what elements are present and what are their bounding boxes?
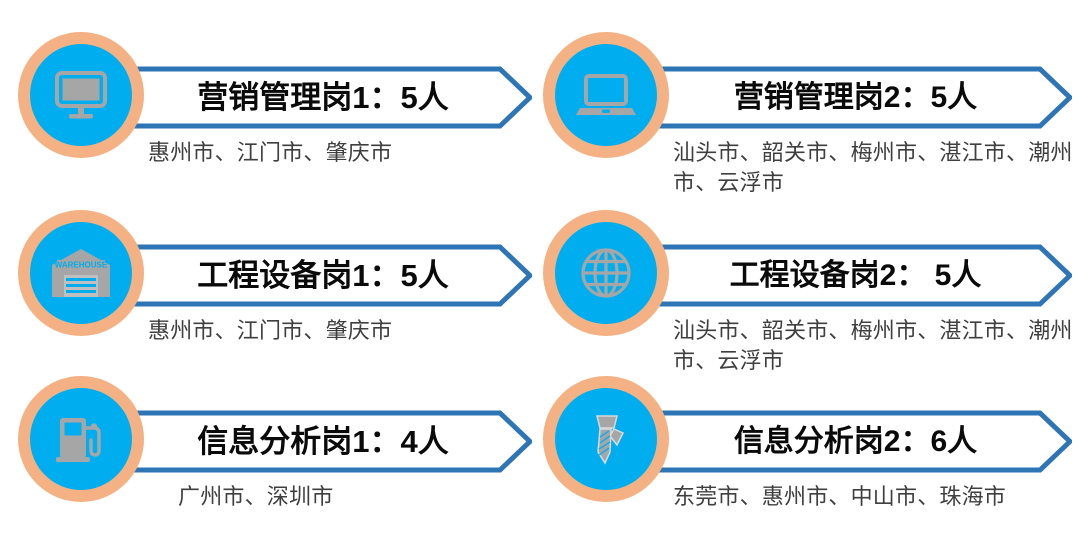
badge-inner (30, 44, 132, 146)
entry-cities: 惠州市、江门市、肇庆市 (148, 316, 538, 346)
entry-title: 信息分析岗1：4人 (112, 410, 532, 473)
badge-analysis-2 (543, 376, 669, 502)
entry-title: 工程设备岗2： 5人 (637, 244, 1072, 307)
entry-title: 营销管理岗1：5人 (112, 66, 532, 129)
banner-marketing-1: 营销管理岗1：5人 (112, 66, 532, 129)
entry-marketing-2: 营销管理岗2：5人 汕头市、韶关市、梅州市、湛江市、潮州市、云浮市 (525, 16, 1065, 194)
fuel-pump-icon (50, 408, 112, 470)
warehouse-label: WAREHOUSE (55, 261, 108, 270)
entry-title: 营销管理岗2：5人 (637, 66, 1072, 129)
badge-inner (555, 44, 657, 146)
badge-engineering-2 (543, 210, 669, 336)
necktie-icon (575, 408, 637, 470)
entry-cities: 惠州市、江门市、肇庆市 (148, 138, 538, 168)
entry-analysis-1: 信息分析岗1：4人 广州市、深圳市 (0, 360, 540, 538)
desktop-monitor-icon (50, 64, 112, 126)
banner-engineering-1: 工程设备岗1：5人 (112, 244, 532, 307)
entry-analysis-2: 信息分析岗2：6人 东莞市、惠州市、中山市、珠海市 (525, 360, 1065, 538)
entry-marketing-1: 营销管理岗1：5人 惠州市、江门市、肇庆市 (0, 16, 540, 194)
entry-cities: 广州市、深圳市 (148, 482, 538, 512)
badge-engineering-1: WAREHOUSE (18, 210, 144, 336)
badge-inner (555, 388, 657, 490)
badge-analysis-1 (18, 376, 144, 502)
infographic-board: 营销管理岗1：5人 惠州市、江门市、肇庆市 营销管理岗2：5人 (0, 0, 1080, 549)
entry-title: 信息分析岗2：6人 (637, 410, 1072, 473)
badge-inner: WAREHOUSE (30, 222, 132, 324)
entry-engineering-2: 工程设备岗2： 5人 汕头市、韶关市、梅州市、湛江市、潮州市、云浮市 (525, 194, 1065, 372)
banner-analysis-1: 信息分析岗1：4人 (112, 410, 532, 473)
globe-icon (575, 242, 637, 304)
badge-marketing-2 (543, 32, 669, 158)
badge-inner (555, 222, 657, 324)
banner-marketing-2: 营销管理岗2：5人 (637, 66, 1072, 129)
banner-engineering-2: 工程设备岗2： 5人 (637, 244, 1072, 307)
entry-engineering-1: 工程设备岗1：5人 WAREHOUSE 惠州市、江门市、肇庆市 (0, 194, 540, 372)
badge-inner (30, 388, 132, 490)
entry-title: 工程设备岗1：5人 (112, 244, 532, 307)
warehouse-icon: WAREHOUSE (48, 242, 114, 304)
entry-cities: 东莞市、惠州市、中山市、珠海市 (673, 482, 1073, 512)
laptop-icon (575, 64, 637, 126)
entry-cities: 汕头市、韶关市、梅州市、湛江市、潮州市、云浮市 (673, 138, 1073, 198)
banner-analysis-2: 信息分析岗2：6人 (637, 410, 1072, 473)
badge-marketing-1 (18, 32, 144, 158)
